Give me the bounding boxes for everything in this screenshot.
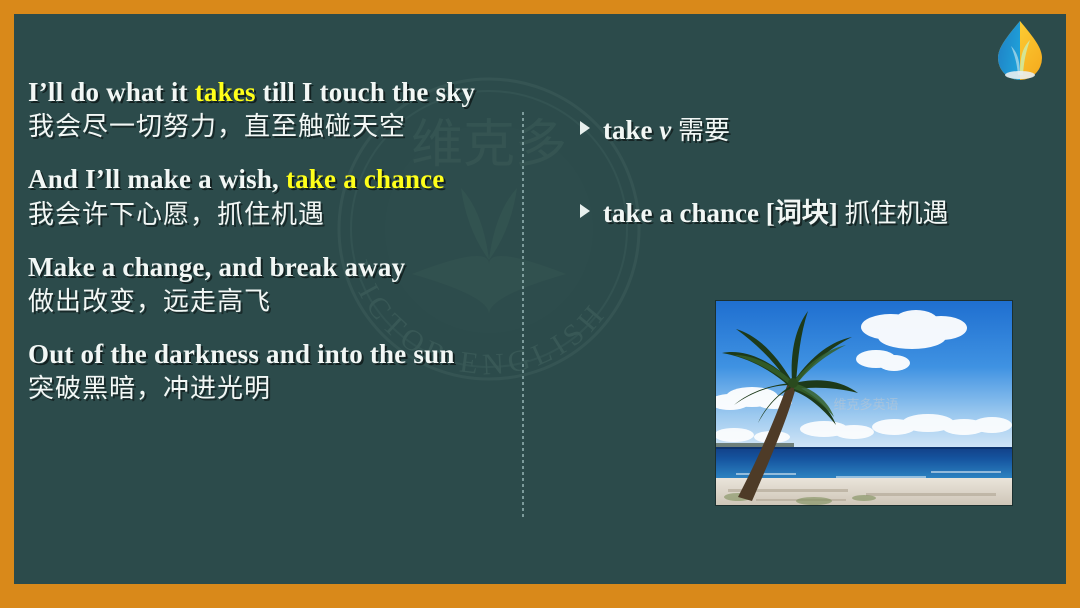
lyric-stanza: And I’ll make a wish, take a chance 我会许下…: [28, 163, 528, 232]
lyric-text-pre: And I’ll make a wish,: [28, 164, 286, 194]
lyric-text-post: till I touch the sky: [256, 77, 475, 107]
flame-sprout-logo-icon: [992, 18, 1048, 80]
lyric-line-chinese: 突破黑暗，冲进光明: [28, 373, 528, 407]
lyric-line-chinese: 我会许下心愿，抓住机遇: [28, 199, 528, 233]
svg-text:维克多英语: 维克多英语: [833, 397, 898, 413]
lyric-line-english: And I’ll make a wish, take a chance: [28, 163, 528, 196]
triangle-bullet-icon: [580, 204, 590, 218]
vocabulary-notes-column: take v 需要 take a chance [词块] 抓住机遇: [580, 114, 1050, 230]
triangle-bullet-icon: [580, 121, 590, 135]
lyric-highlight: take a chance: [286, 164, 445, 194]
lyric-text-pre: I’ll do what it: [28, 77, 195, 107]
lyric-stanza: Make a change, and break away 做出改变，远走高飞: [28, 251, 528, 320]
vocabulary-word: take a chance: [603, 198, 759, 228]
vocabulary-word: take: [603, 115, 653, 145]
lyric-line-chinese: 做出改变，远走高飞: [28, 286, 528, 320]
lyric-line-english: I’ll do what it takes till I touch the s…: [28, 76, 528, 109]
vocabulary-note: take a chance [词块] 抓住机遇: [580, 197, 1050, 230]
lyric-stanza: Out of the darkness and into the sun 突破黑…: [28, 338, 528, 407]
slide-content-area: VICTOR ENGLISH 维克多: [14, 14, 1066, 584]
slide: VICTOR ENGLISH 维克多: [0, 0, 1080, 608]
lyrics-column: I’ll do what it takes till I touch the s…: [28, 76, 528, 407]
part-of-speech-value: v: [659, 115, 671, 145]
lyric-stanza: I’ll do what it takes till I touch the s…: [28, 76, 528, 145]
vocabulary-note-text: take v 需要: [603, 114, 730, 147]
lyric-line-chinese: 我会尽一切努力，直至触碰天空: [28, 111, 528, 145]
vocabulary-tag: [词块]: [766, 198, 838, 228]
beach-photo: 维克多英语: [716, 301, 1012, 505]
lyric-line-english: Make a change, and break away: [28, 251, 528, 284]
lyric-text-pre: Make a change, and break away: [28, 252, 405, 282]
lyric-line-english: Out of the darkness and into the sun: [28, 338, 528, 371]
vocabulary-meaning: 需要: [678, 116, 730, 146]
vocabulary-note-text: take a chance [词块] 抓住机遇: [603, 197, 948, 230]
vocabulary-meaning: 抓住机遇: [844, 199, 948, 229]
vocabulary-note: take v 需要: [580, 114, 1050, 147]
lyric-highlight: takes: [195, 77, 256, 107]
lyric-text-pre: Out of the darkness and into the sun: [28, 339, 455, 369]
